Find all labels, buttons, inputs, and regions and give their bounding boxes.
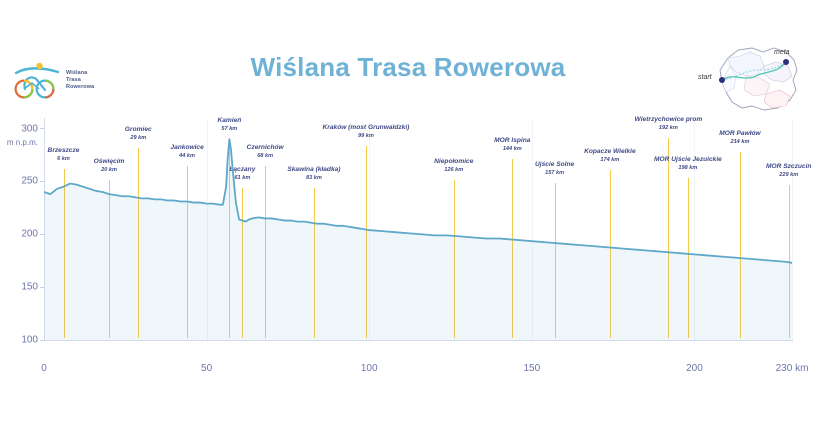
map-start-label: start	[698, 74, 712, 81]
x-axis-tick-label: 100	[361, 363, 378, 374]
elevation-profile-line	[44, 110, 792, 358]
x-axis-tick-label: 150	[523, 363, 540, 374]
x-axis-tick-label: 0	[41, 363, 47, 374]
x-axis-tick-label: 200	[686, 363, 703, 374]
plot-area: m n.p.m. 100150200250300050100150200230 …	[44, 110, 792, 358]
x-axis-tick-label: 230 km	[776, 363, 809, 374]
y-axis-tick-label: 100	[21, 335, 38, 346]
grid-line	[792, 118, 793, 340]
y-axis-tick-label: 300	[21, 123, 38, 134]
poster-root: Wiślana Trasa Rowerowa Wiślana Trasa Row…	[0, 0, 816, 426]
y-axis-tick-label: 200	[21, 229, 38, 240]
malopolska-region-map: start meta	[700, 36, 810, 116]
elevation-area-fill	[44, 139, 792, 340]
brand-logo-line3: Rowerowa	[66, 84, 94, 91]
y-axis-unit-label: m n.p.m.	[7, 138, 38, 147]
y-axis-tick-label: 250	[21, 176, 38, 187]
elevation-profile-chart: m n.p.m. 100150200250300050100150200230 …	[0, 110, 816, 370]
y-axis-tick-label: 150	[21, 282, 38, 293]
x-axis-tick-label: 50	[201, 363, 212, 374]
page-title: Wiślana Trasa Rowerowa	[0, 52, 816, 83]
map-meta-label: meta	[774, 49, 790, 56]
